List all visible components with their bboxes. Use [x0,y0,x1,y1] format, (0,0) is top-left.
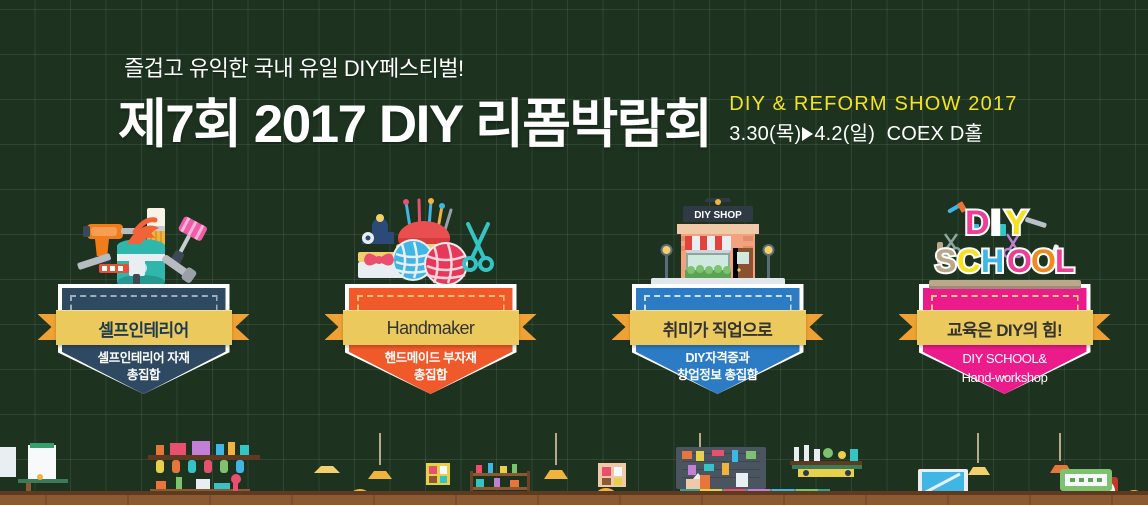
logo-letter-D: D [965,204,990,242]
tools-svg [69,198,219,290]
diy-school-logo: D I Y S C H O O L [925,198,1085,290]
badge-art-handmaker [287,198,574,290]
ribbon-label: 취미가 직업으로 [663,316,772,341]
ribbon-diy-school: 교육은 DIY의 힘! [899,310,1111,344]
badge-subtitle-line2: Hand-workshop [920,369,1090,388]
tagline: 즐겁고 유익한 국내 유일 DIY페스티벌! [124,58,1078,80]
show-name-en: DIY & REFORM SHOW 2017 [729,92,1017,117]
diy-workshop-scene-illustration [0,433,1148,505]
paint-can-and-tools-illustration [69,198,219,290]
badge-hobby-to-job[interactable]: DIY SHOP [574,198,861,398]
badge-art-self-interior [0,198,287,290]
sewing-machine-and-yarn-illustration [356,198,506,290]
ribbon-body: Handmaker [343,310,519,345]
diy-school-logo-svg: D I Y S C H O O L [925,198,1085,290]
logo-letter-O2: O [1031,243,1056,279]
ribbon-handmaker: Handmaker [325,310,537,344]
badge-subtitle-line2: 총집합 [346,367,516,384]
logo-letter-I: I [991,204,1000,242]
ribbon-body: 셀프인테리어 [56,310,232,345]
badge-art-diy-school: D I Y S C H O O L [861,198,1148,290]
ribbon-hobby-to-job: 취미가 직업으로 [612,310,824,344]
badge-subtitle-diy-school: DIY SCHOOL& Hand-workshop [920,350,1090,388]
logo-letter-H: H [981,243,1004,279]
badge-art-hobby-to-job: DIY SHOP [574,198,861,290]
badge-row: 셀프인테리어 셀프인테리어 자재 총집합 [0,198,1148,398]
shop-sign-text: DIY SHOP [694,210,742,221]
badge-subtitle-line1: DIY SCHOOL& [920,350,1090,369]
badge-subtitle-line1: DIY자격증과 [633,350,803,367]
show-info: DIY & REFORM SHOW 2017 3.30(목)4.2(일) COE… [729,92,1017,151]
show-date-venue: 3.30(목)4.2(일) COEX D홀 [729,122,1017,147]
diy-reform-show-banner: 즐겁고 유익한 국내 유일 DIY페스티벌! 제7회 2017 DIY 리폼박람… [0,0,1148,505]
badge-subtitle-line2: 총집합 [59,367,229,384]
badge-subtitle-line1: 핸드메이드 부자재 [346,350,516,367]
logo-letter-S: S [935,243,956,279]
handmade-svg [356,198,506,290]
ribbon-label: 셀프인테리어 [98,316,188,341]
venue: COEX D홀 [887,123,983,145]
badge-subtitle-line1: 셀프인테리어 자재 [59,350,229,367]
badge-subtitle-line2: 창업정보 총집합 [633,367,803,384]
logo-letter-C: C [957,243,980,279]
diy-shop-storefront-illustration: DIY SHOP [643,198,793,290]
ribbon-body: 교육은 DIY의 힘! [917,310,1093,345]
ruler-icon [929,280,1081,289]
ribbon-self-interior: 셀프인테리어 [38,310,250,344]
arrow-right-icon [802,127,813,141]
badge-subtitle-hobby-to-job: DIY자격증과 창업정보 총집합 [633,350,803,384]
badge-self-interior[interactable]: 셀프인테리어 셀프인테리어 자재 총집합 [0,198,287,398]
date-end: 4.2(일) [814,123,875,145]
date-start: 3.30(목) [729,123,801,145]
badge-subtitle-self-interior: 셀프인테리어 자재 총집합 [59,350,229,384]
title-row: 제7회 2017 DIY 리폼박람회 DIY & REFORM SHOW 201… [118,92,1078,151]
ribbon-label: Handmaker [387,318,475,339]
badge-handmaker[interactable]: Handmaker 핸드메이드 부자재 총집합 [287,198,574,398]
badge-subtitle-handmaker: 핸드메이드 부자재 총집합 [346,350,516,384]
workshop-svg [0,433,1148,505]
logo-letter-Y: Y [1005,204,1028,242]
badge-diy-school[interactable]: D I Y S C H O O L [861,198,1148,398]
logo-letter-O1: O [1007,243,1032,279]
logo-letter-L: L [1055,243,1075,279]
ribbon-body: 취미가 직업으로 [630,310,806,345]
shop-svg: DIY SHOP [643,198,793,290]
headline-block: 즐겁고 유익한 국내 유일 DIY페스티벌! 제7회 2017 DIY 리폼박람… [118,58,1078,151]
page-title: 제7회 2017 DIY 리폼박람회 [118,98,711,151]
ribbon-label: 교육은 DIY의 힘! [947,316,1062,341]
